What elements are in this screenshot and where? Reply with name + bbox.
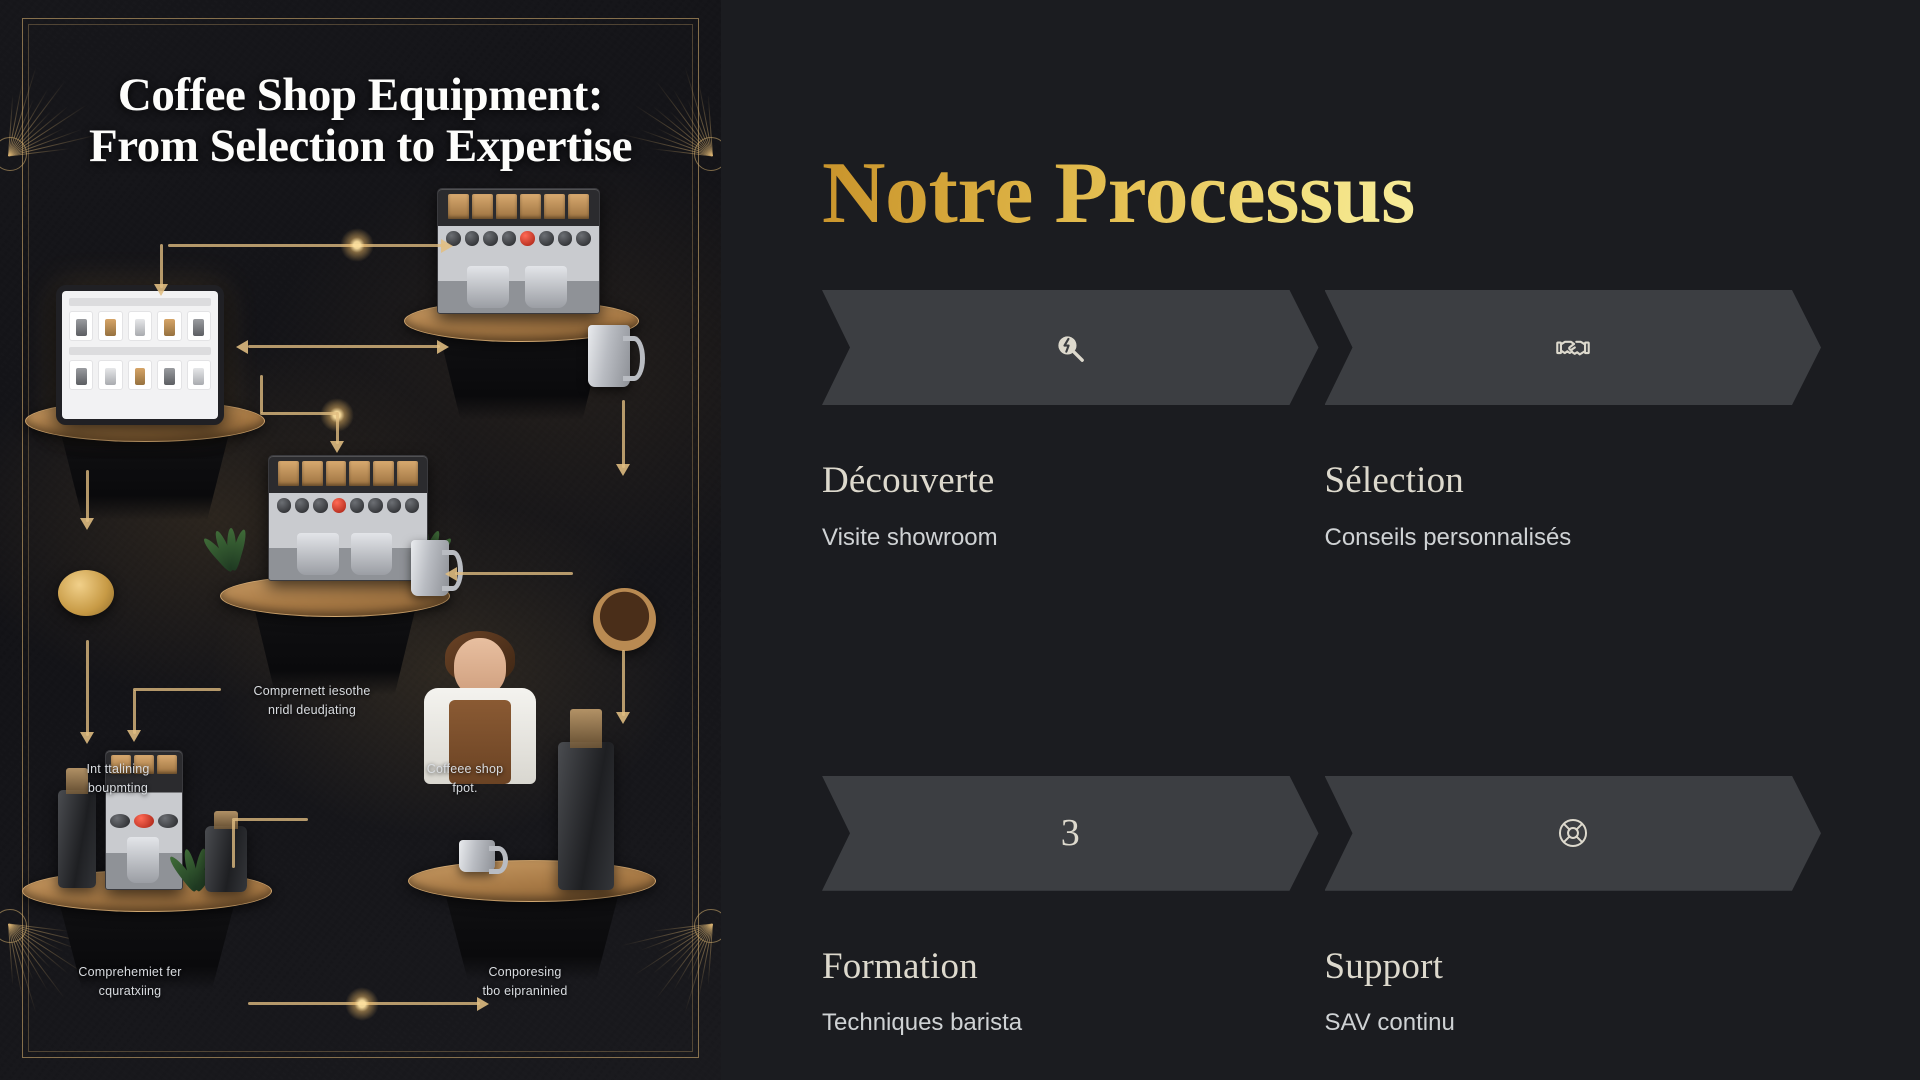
- step-title: Formation: [822, 946, 1319, 989]
- glow-spark-bottom: [345, 987, 379, 1021]
- chevron-banner-3[interactable]: 3: [822, 776, 1319, 891]
- image-title-line-1: Coffee Shop Equipment:: [22, 70, 699, 121]
- caption-espresso: Coffeee shop fpot.: [385, 760, 545, 798]
- steel-mug-top: [588, 325, 630, 387]
- process-steps-grid: Découverte Visite showroom: [822, 290, 1821, 1038]
- step-description: Conseils personnalisés: [1325, 522, 1822, 553]
- glow-spark-center: [320, 398, 354, 432]
- presentation-slide: Coffee Shop Equipment: From Selection to…: [0, 0, 1920, 1080]
- espresso-machine-top: [437, 188, 600, 314]
- magnifier-bolt-icon: [1053, 331, 1087, 365]
- group-head-right: [351, 533, 392, 575]
- group-head-left: [467, 266, 509, 308]
- grinder-left: [58, 790, 96, 888]
- step-number-badge: 3: [1061, 814, 1080, 852]
- process-step-decouverte[interactable]: Découverte Visite showroom: [822, 290, 1319, 553]
- group-head-right: [525, 266, 567, 308]
- chevron-banner-2[interactable]: [1325, 290, 1822, 405]
- gold-nugget: [58, 570, 114, 616]
- image-title-line-2: From Selection to Expertise: [22, 121, 699, 172]
- group-head: [127, 837, 159, 884]
- step-title: Support: [1325, 946, 1822, 989]
- pedestal-top: [408, 860, 656, 902]
- caption-bottom-right: Conporesing tbo eipraninied: [430, 963, 620, 1001]
- step-title: Découverte: [822, 460, 1319, 503]
- chevron-banner-1[interactable]: [822, 290, 1319, 405]
- process-step-formation[interactable]: 3 Formation Techniques barista: [822, 776, 1319, 1039]
- tablet-device: [56, 285, 224, 425]
- product-grid-row-2: [69, 360, 211, 390]
- screen-divider-bar: [69, 347, 211, 355]
- mug-bottom: [459, 840, 495, 872]
- step-description: Visite showroom: [822, 522, 1319, 553]
- grinder-canister: [205, 826, 247, 892]
- espresso-machine-center: [268, 455, 428, 581]
- product-grid-row-1: [69, 311, 211, 341]
- coffee-infographic-image: Coffee Shop Equipment: From Selection to…: [0, 0, 721, 1080]
- content-panel: Notre Processus Découverte Visite showro…: [721, 0, 1920, 1080]
- step-title: Sélection: [1325, 460, 1822, 503]
- caption-tablet: Int ttalining boupmting: [38, 760, 198, 798]
- lifebuoy-icon: [1556, 816, 1590, 850]
- cup-row: [278, 461, 417, 486]
- cup-row: [448, 194, 590, 219]
- process-step-support[interactable]: Support SAV continu: [1325, 776, 1822, 1039]
- image-title: Coffee Shop Equipment: From Selection to…: [0, 70, 721, 172]
- screen-header-bar: [69, 298, 211, 306]
- coffee-bean-bowl: [593, 588, 656, 651]
- group-head-left: [297, 533, 338, 575]
- tablet-screen: [62, 291, 218, 419]
- grinder-right: [558, 742, 614, 890]
- step-description: SAV continu: [1325, 1007, 1822, 1038]
- process-step-selection[interactable]: Sélection Conseils personnalisés: [1325, 290, 1822, 553]
- handshake-icon: [1556, 331, 1590, 365]
- knob-row: [446, 230, 591, 247]
- glow-spark-top: [340, 228, 374, 262]
- page-title: Notre Processus: [822, 150, 1415, 238]
- caption-bottom-left: Comprehemiet fer cquratxiing: [35, 963, 225, 1001]
- knob-row: [110, 814, 178, 828]
- step-description: Techniques barista: [822, 1007, 1319, 1038]
- steel-mug-center: [411, 540, 449, 596]
- caption-center: Comprernett iesothe nridl deudjating: [197, 682, 427, 720]
- chevron-banner-4[interactable]: [1325, 776, 1822, 891]
- knob-row: [277, 497, 419, 514]
